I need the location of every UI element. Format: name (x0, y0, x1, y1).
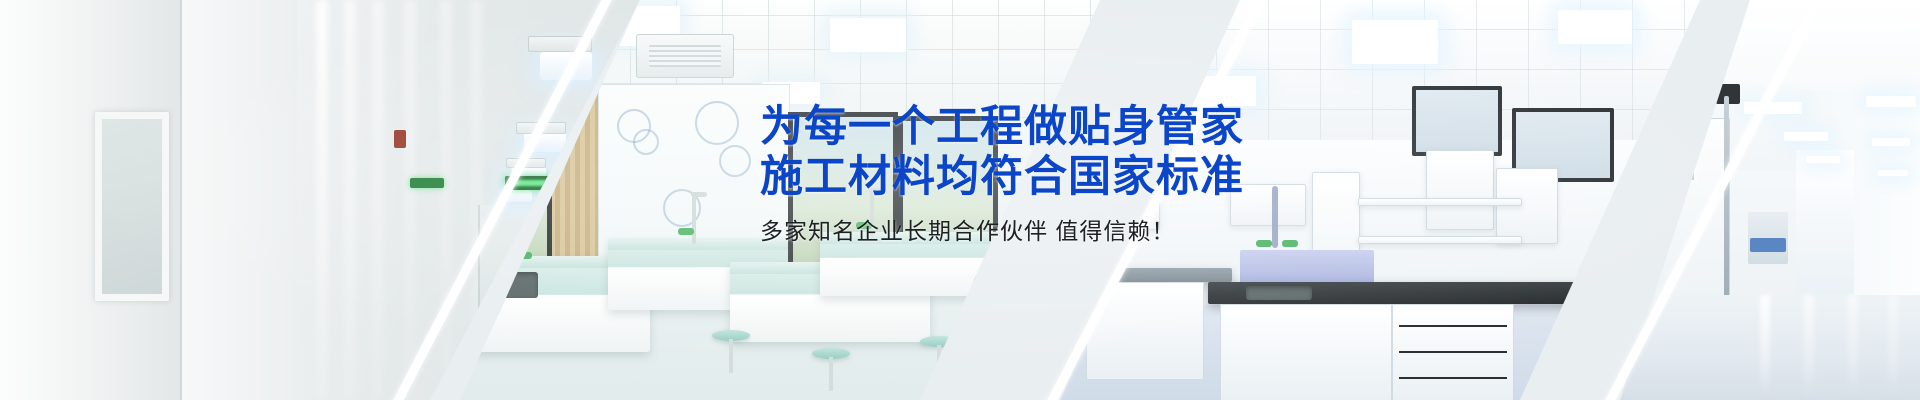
molecule-graphic (633, 129, 659, 155)
headline-line-1: 为每一个工程做贴身管家 (760, 104, 1280, 150)
corridor-floor (1620, 295, 1920, 400)
reagent-shelf (1358, 198, 1522, 206)
wall-light-streak (372, 0, 384, 400)
medical-cart (1748, 212, 1788, 264)
ceiling-light-panel (1352, 20, 1438, 64)
base-cabinet (1392, 304, 1514, 400)
lab-stool (712, 330, 750, 341)
exit-sign (410, 178, 444, 188)
bench-backsplash (1240, 250, 1374, 284)
air-conditioner-diffuser (636, 34, 734, 78)
dark-countertop (1082, 268, 1232, 282)
fire-alarm-box (394, 130, 406, 148)
reagent-shelf (1358, 236, 1522, 244)
wall-fume-hood (1412, 86, 1502, 156)
wall-light-streak (316, 0, 328, 400)
corridor-vanishing-point (1796, 150, 1854, 300)
ceiling-light-strip (1872, 138, 1910, 146)
floor-reflection (1760, 295, 1770, 400)
banner-copy: 为每一个工程做贴身管家 施工材料均符合国家标准 多家知名企业长期合作伙伴 值得信… (760, 104, 1280, 246)
wall-cabinet (1426, 150, 1494, 230)
faucet-handle (1282, 240, 1298, 247)
ceiling-light-strip (1784, 132, 1828, 141)
wall-light-streak (344, 0, 356, 400)
faucet-handle (678, 228, 694, 235)
corridor-door-left (180, 0, 297, 400)
base-cabinet (1220, 304, 1392, 400)
faucet-handle (516, 252, 532, 259)
sub-headline: 多家知名企业长期合作伙伴 值得信赖！ (760, 216, 1280, 246)
airtight-sliding-door (1642, 118, 1730, 300)
door-guide-rail (1724, 96, 1729, 302)
floor-reflection (1804, 295, 1814, 400)
molecule-graphic (719, 145, 751, 177)
hero-banner: 为每一个工程做贴身管家 施工材料均符合国家标准 多家知名企业长期合作伙伴 值得信… (0, 0, 1920, 400)
drawer-line (1399, 351, 1507, 353)
door-view-window (95, 112, 169, 301)
wall-light-streak (404, 0, 416, 400)
headline-line-2: 施工材料均符合国家标准 (760, 154, 1280, 200)
ceiling-light-strip (1744, 102, 1802, 114)
door-view-window (1665, 143, 1697, 183)
bench-sink (1246, 286, 1312, 300)
wall-light-streak (440, 0, 452, 400)
ceiling-light-strip (1806, 156, 1840, 163)
floor-reflection (1848, 295, 1858, 400)
ceiling-light-strip (1866, 96, 1916, 107)
lab-stool (920, 336, 958, 347)
ceiling-light-strip (1878, 170, 1908, 176)
floor-reflection (1888, 295, 1898, 400)
bench-faucet (692, 196, 696, 244)
wall-light-streak (470, 0, 482, 400)
wall-cabinet (1496, 168, 1558, 244)
drawer-line (1399, 325, 1507, 327)
lab-stool (812, 348, 850, 359)
drawer-line (1399, 377, 1507, 379)
molecule-graphic (695, 101, 739, 145)
ceiling-light-panel (1558, 10, 1632, 44)
ceiling-light-panel (830, 18, 906, 52)
